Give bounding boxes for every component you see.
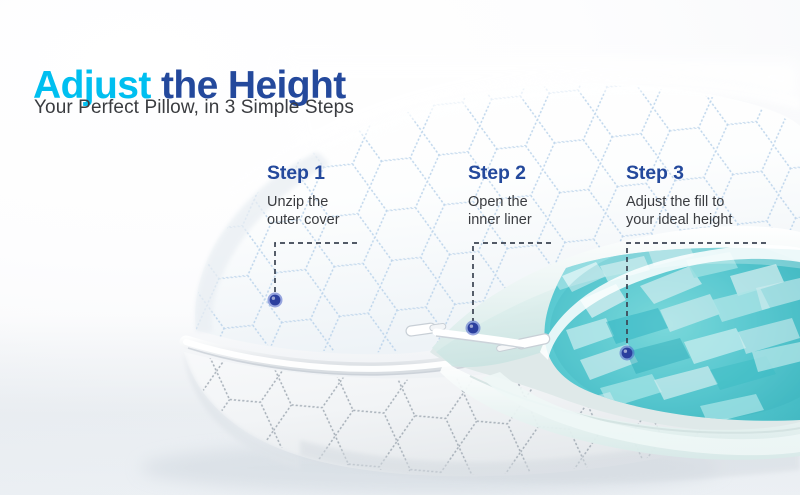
step-1-description-line2: outer cover [267, 211, 340, 229]
callout-step-2: Step 2Open theinner liner [468, 164, 532, 229]
step-3-description: Adjust the fill toyour ideal height [626, 193, 732, 230]
step-2-marker-dot[interactable] [468, 323, 479, 334]
page-subtitle: Your Perfect Pillow, in 3 Simple Steps [34, 97, 354, 119]
step-1-leader-line [275, 243, 357, 293]
step-2-description-line2: inner liner [468, 211, 532, 229]
step-1-description-line1: Unzip the [267, 193, 340, 211]
step-1-heading: Step 1 [267, 164, 340, 184]
step-3-marker-dot[interactable] [622, 348, 633, 359]
step-3-heading: Step 3 [626, 164, 732, 184]
step-2-description: Open theinner liner [468, 193, 532, 230]
step-2-marker-highlight [470, 325, 473, 328]
step-1-marker-dot[interactable] [270, 295, 281, 306]
step-2-heading: Step 2 [468, 164, 532, 184]
step-3-marker-highlight [624, 350, 627, 353]
step-2-leader-line [473, 243, 551, 321]
step-3-description-line1: Adjust the fill to [626, 193, 732, 211]
step-1-marker-highlight [272, 297, 275, 300]
infographic-canvas: Adjust the Height Your Perfect Pillow, i… [0, 0, 800, 495]
callout-step-1: Step 1Unzip theouter cover [267, 164, 340, 229]
callout-step-3: Step 3Adjust the fill toyour ideal heigh… [626, 164, 732, 229]
step-1-description: Unzip theouter cover [267, 193, 340, 230]
step-3-description-line2: your ideal height [626, 211, 732, 229]
step-2-description-line1: Open the [468, 193, 532, 211]
step-3-leader-line [627, 243, 766, 346]
